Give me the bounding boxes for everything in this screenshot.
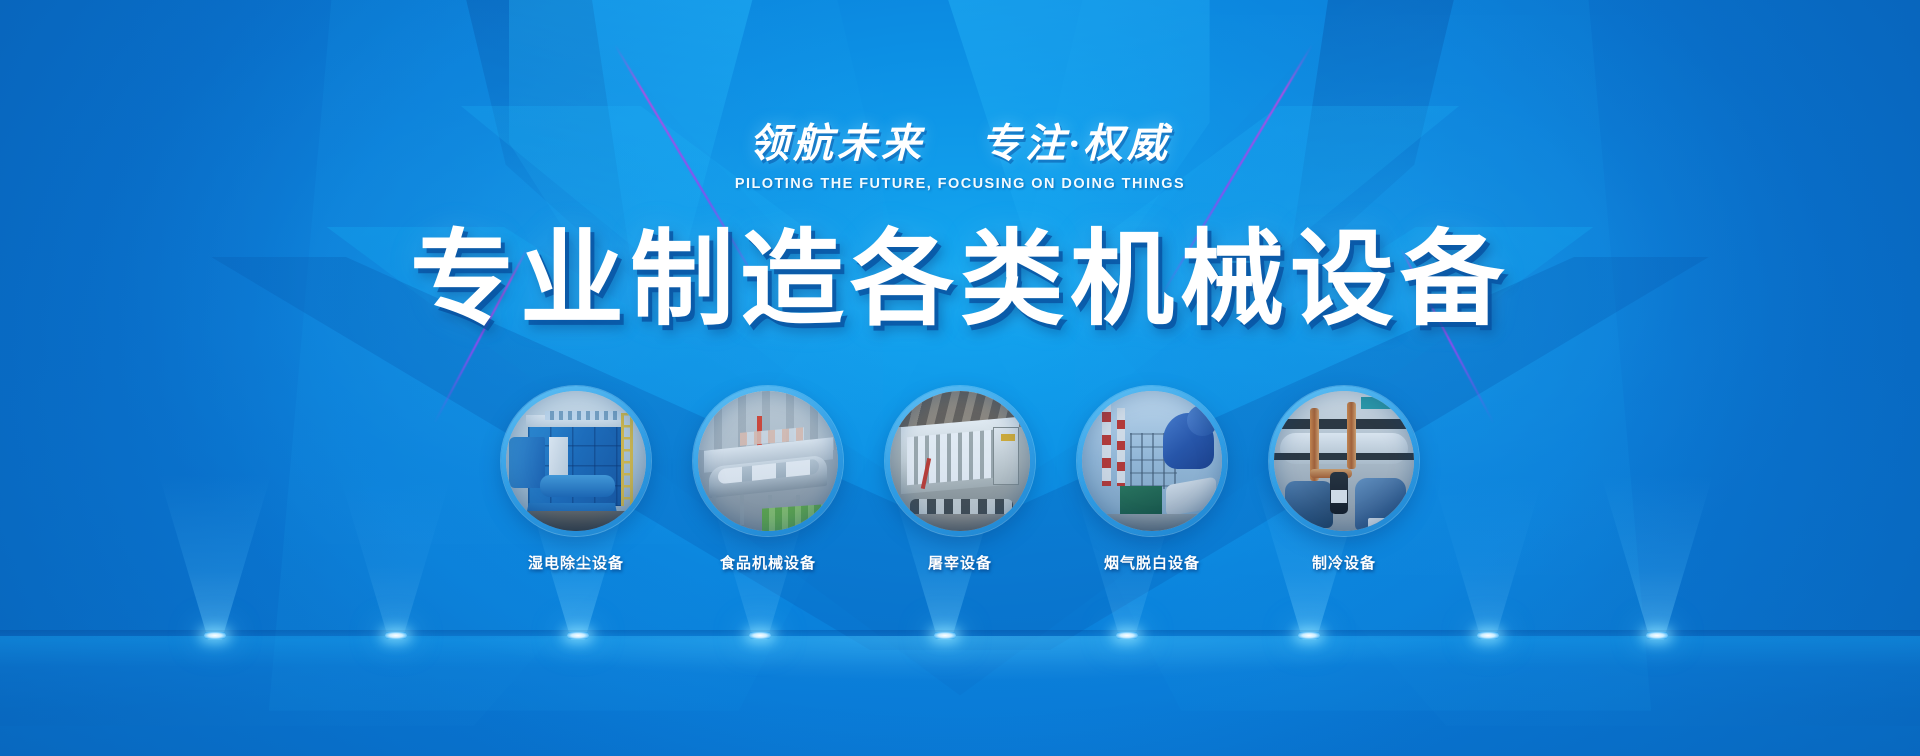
thumbnail-ring[interactable]	[885, 386, 1035, 536]
wet-electrostatic-precipitator-photo	[506, 391, 646, 531]
product-thumbnail-row: 湿电除尘设备	[0, 386, 1920, 573]
product-label: 食品机械设备	[693, 552, 843, 573]
product-item-flue-gas[interactable]: 烟气脱白设备	[1077, 386, 1227, 573]
thumbnail-ring[interactable]	[501, 386, 651, 536]
thumbnail-ring[interactable]	[1269, 386, 1419, 536]
product-label: 湿电除尘设备	[501, 552, 651, 573]
flue-gas-dewhitening-plant-photo	[1082, 391, 1222, 531]
product-item-slaughter[interactable]: 屠宰设备	[885, 386, 1035, 573]
product-label: 屠宰设备	[885, 552, 1035, 573]
food-machinery-conveyor-photo	[698, 391, 838, 531]
refrigeration-compressor-photo	[1274, 391, 1414, 531]
product-item-wet-electrostatic[interactable]: 湿电除尘设备	[501, 386, 651, 573]
product-label: 烟气脱白设备	[1077, 552, 1227, 573]
slaughter-equipment-photo	[890, 391, 1030, 531]
thumbnail-ring[interactable]	[1077, 386, 1227, 536]
background-gradient	[0, 0, 1920, 756]
thumbnail-ring[interactable]	[693, 386, 843, 536]
product-label: 制冷设备	[1269, 552, 1419, 573]
product-item-refrigeration[interactable]: 制冷设备	[1269, 386, 1419, 573]
promotional-banner: 领航未来 专注·权威 PILOTING THE FUTURE, FOCUSING…	[0, 0, 1920, 756]
product-item-food-machinery[interactable]: 食品机械设备	[693, 386, 843, 573]
